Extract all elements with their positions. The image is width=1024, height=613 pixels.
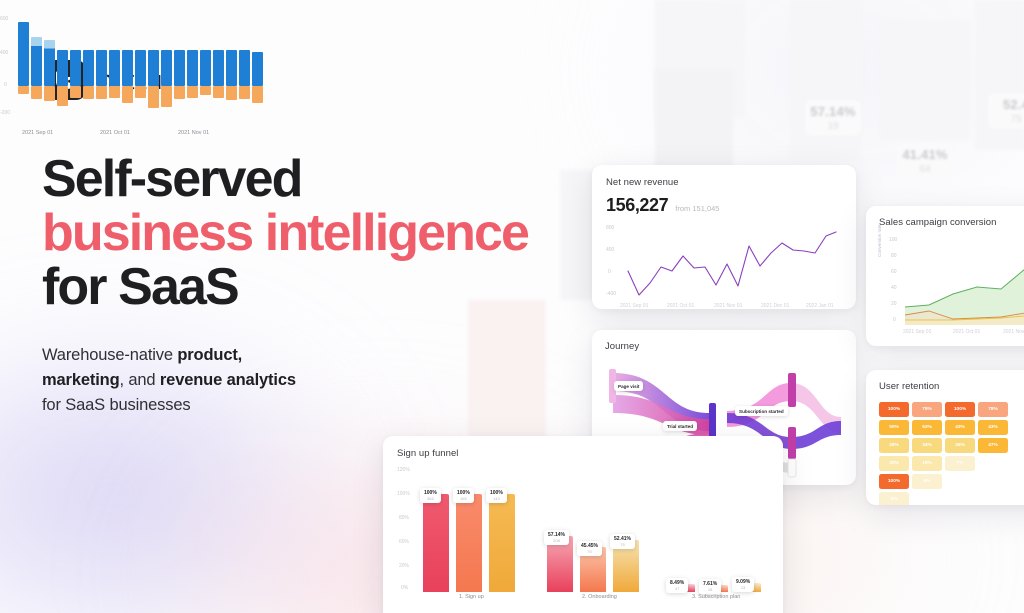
bar-negative[interactable] bbox=[122, 86, 133, 103]
x-tick: 2021 Sep 01 bbox=[903, 329, 931, 335]
funnel-tooltip-pct: 100% bbox=[457, 490, 470, 496]
funnel-bar[interactable] bbox=[456, 494, 482, 592]
x-tick: 2021 Sep 01 bbox=[22, 130, 53, 136]
x-tick: 1. Sign up bbox=[459, 594, 484, 600]
background-ghost-bar bbox=[790, 0, 862, 160]
subhead-fragment-1: product, bbox=[177, 346, 242, 364]
y-tick: -400 bbox=[606, 291, 616, 297]
card-sales-campaign-conversion[interactable]: Sales campaign conversion Conversion rat… bbox=[866, 206, 1024, 346]
kpi-value: 156,227 bbox=[606, 195, 668, 216]
retention-cell[interactable]: 43% bbox=[978, 420, 1008, 435]
retention-cell[interactable]: 5% bbox=[879, 492, 909, 505]
retention-row: 100%5% bbox=[879, 474, 1024, 489]
funnel-tooltip-count: 47 bbox=[670, 586, 684, 591]
y-tick: 20% bbox=[399, 563, 409, 569]
background-tooltip: 52.4 75 bbox=[988, 93, 1024, 129]
bar-positive[interactable] bbox=[200, 50, 211, 86]
bar-positive[interactable] bbox=[148, 50, 159, 86]
card-title: Sales campaign conversion bbox=[879, 217, 1024, 228]
funnel-bar[interactable] bbox=[423, 494, 449, 592]
bar-positive[interactable] bbox=[213, 50, 224, 86]
bar-positive[interactable] bbox=[83, 50, 94, 86]
sales-area-plot: Conversion rate 100 80 60 40 20 0 2021 S… bbox=[879, 237, 1024, 341]
retention-cell[interactable]: 47% bbox=[978, 438, 1008, 453]
retention-heatmap: 100%79%100%78%50%53%43%43%28%34%26%47%20… bbox=[879, 402, 1024, 505]
background-ghost-bar bbox=[655, 70, 733, 168]
retention-cell[interactable]: 20% bbox=[879, 456, 909, 471]
retention-cell[interactable]: 100% bbox=[879, 402, 909, 417]
headline-line-2: business intelligence bbox=[42, 206, 602, 260]
funnel-bar[interactable] bbox=[489, 494, 515, 592]
bar-negative[interactable] bbox=[31, 86, 42, 99]
funnel-tooltip: 45.45%75 bbox=[577, 541, 602, 556]
y-tick: 400 bbox=[0, 50, 8, 56]
bar-positive[interactable] bbox=[252, 52, 263, 87]
journey-node-label: Trial started bbox=[663, 421, 697, 431]
bar-positive[interactable] bbox=[18, 22, 29, 86]
retention-cell[interactable]: 26% bbox=[945, 438, 975, 453]
retention-row: 28%34%26%47% bbox=[879, 438, 1024, 453]
background-ghost-bar bbox=[880, 20, 970, 140]
bar-positive[interactable] bbox=[122, 50, 133, 86]
x-tick: 2022 Jan 01 bbox=[806, 303, 834, 309]
retention-cell[interactable]: 100% bbox=[945, 402, 975, 417]
y-tick: 800 bbox=[606, 225, 614, 231]
funnel-tooltip-count: 208 bbox=[548, 538, 565, 543]
journey-node-label: Subscription started bbox=[735, 406, 788, 416]
bar-negative[interactable] bbox=[239, 86, 250, 99]
retention-cell[interactable]: 28% bbox=[879, 438, 909, 453]
y-tick: 0 bbox=[4, 82, 7, 88]
y-tick: 80% bbox=[399, 515, 409, 521]
bar-negative[interactable] bbox=[148, 86, 159, 108]
funnel-tooltip-count: 143 bbox=[490, 496, 503, 501]
x-tick: 2021 Nov 01 bbox=[1003, 329, 1024, 335]
bar-positive[interactable] bbox=[57, 50, 68, 86]
card-daily-active-users[interactable]: 600 400 0 -200 2021 Sep 01 2021 Oct 01 2… bbox=[0, 0, 260, 150]
funnel-tooltip: 100%165 bbox=[453, 488, 474, 503]
bar-negative[interactable] bbox=[18, 86, 29, 94]
funnel-bar-plot: 120% 100% 80% 60% 20% 0% 100%364100%1651… bbox=[397, 467, 769, 592]
bar-negative[interactable] bbox=[226, 86, 237, 100]
bar-negative[interactable] bbox=[83, 86, 94, 99]
bar-negative[interactable] bbox=[57, 86, 68, 106]
funnel-tooltip-count: 364 bbox=[424, 496, 437, 501]
bar-positive[interactable] bbox=[31, 37, 42, 86]
y-tick: 0 bbox=[893, 317, 896, 323]
x-tick: 2021 Oct 01 bbox=[667, 303, 694, 309]
subhead-fragment-3: marketing bbox=[42, 371, 120, 389]
funnel-tooltip-count: 75 bbox=[614, 542, 631, 547]
headline-line-3: for SaaS bbox=[42, 260, 602, 314]
kpi-comparison: from 151,045 bbox=[675, 204, 719, 213]
subhead-fragment-4: , and bbox=[120, 371, 160, 389]
bars-plot: 600 400 0 -200 bbox=[0, 0, 260, 130]
hero-subheading: Warehouse-native product, marketing, and… bbox=[42, 343, 312, 418]
funnel-tooltip-pct: 100% bbox=[424, 490, 437, 496]
x-tick: 2021 Sep 01 bbox=[620, 303, 648, 309]
background-tooltip-value: 57.14% bbox=[810, 104, 855, 119]
retention-cell[interactable]: 50% bbox=[879, 420, 909, 435]
retention-cell[interactable]: 100% bbox=[879, 474, 909, 489]
background-tooltip-value: 52.4 bbox=[1003, 97, 1024, 112]
bar-negative[interactable] bbox=[44, 86, 55, 101]
y-tick: 0% bbox=[401, 585, 408, 591]
retention-cell[interactable]: 34% bbox=[912, 438, 942, 453]
bar-negative[interactable] bbox=[174, 86, 185, 99]
x-tick: 2021 Nov 01 bbox=[178, 130, 209, 136]
journey-node-label: Page visit bbox=[614, 381, 643, 391]
funnel-tooltip-pct: 100% bbox=[490, 490, 503, 496]
background-tooltip-count: 64 bbox=[919, 164, 930, 175]
revenue-line-plot: 800 400 0 -400 2021 Sep 01 2021 Oct 01 2… bbox=[606, 223, 842, 309]
retention-cell[interactable]: 7% bbox=[945, 456, 975, 471]
subhead-fragment-0: Warehouse-native bbox=[42, 346, 177, 364]
y-axis-label: Conversion rate bbox=[877, 225, 882, 257]
card-user-retention[interactable]: User retention 100%79%100%78%50%53%43%43… bbox=[866, 370, 1024, 505]
funnel-tooltip-pct: 7.61% bbox=[703, 581, 717, 587]
y-tick: 80 bbox=[891, 253, 897, 259]
funnel-tooltip: 57.14%208 bbox=[544, 530, 569, 545]
x-tick: 2021 Oct 01 bbox=[100, 130, 130, 136]
card-title: User retention bbox=[879, 381, 1024, 392]
funnel-tooltip: 52.41%75 bbox=[610, 534, 635, 549]
funnel-tooltip: 100%364 bbox=[420, 488, 441, 503]
bar-positive[interactable] bbox=[70, 50, 81, 86]
x-tick: 2021 Oct 01 bbox=[953, 329, 980, 335]
y-tick: 60% bbox=[399, 539, 409, 545]
bar-positive[interactable] bbox=[187, 50, 198, 86]
retention-cell[interactable]: 53% bbox=[912, 420, 942, 435]
y-tick: 600 bbox=[0, 16, 8, 22]
funnel-tooltip-pct: 57.14% bbox=[548, 532, 565, 538]
bar-negative[interactable] bbox=[96, 86, 107, 99]
funnel-tooltip-pct: 8.49% bbox=[670, 580, 684, 586]
y-tick: 400 bbox=[606, 247, 614, 253]
funnel-tooltip: 9.09%13 bbox=[732, 577, 754, 592]
bar-positive[interactable] bbox=[239, 50, 250, 86]
bar-negative[interactable] bbox=[213, 86, 224, 98]
y-tick: 120% bbox=[397, 467, 410, 473]
card-title: Journey bbox=[605, 341, 843, 352]
bar-negative[interactable] bbox=[187, 86, 198, 98]
bar-positive[interactable] bbox=[226, 50, 237, 86]
bar-positive[interactable] bbox=[174, 50, 185, 86]
funnel-tooltip: 100%143 bbox=[486, 488, 507, 503]
retention-cell[interactable]: 78% bbox=[978, 402, 1008, 417]
card-sign-up-funnel[interactable]: Sign up funnel 120% 100% 80% 60% 20% 0% … bbox=[383, 436, 783, 613]
bar-negative[interactable] bbox=[200, 86, 211, 95]
y-tick: 0 bbox=[608, 269, 611, 275]
x-tick: 2021 Dec 01 bbox=[761, 303, 789, 309]
retention-cell[interactable]: 5% bbox=[912, 474, 942, 489]
background-tooltip-value: 41.41% bbox=[902, 147, 947, 162]
y-tick: 20 bbox=[891, 301, 897, 307]
bar-negative[interactable] bbox=[161, 86, 172, 107]
background-tooltip-count: 75 bbox=[1010, 114, 1021, 125]
funnel-tooltip: 8.49%47 bbox=[666, 578, 688, 593]
bar-positive[interactable] bbox=[161, 50, 172, 86]
card-title: Net new revenue bbox=[606, 177, 842, 188]
subhead-fragment-8: for SaaS businesses bbox=[42, 396, 191, 414]
x-tick: 2021 Nov 01 bbox=[714, 303, 742, 309]
x-tick: 3. Subscription plan bbox=[692, 594, 740, 600]
retention-cell[interactable]: 79% bbox=[912, 402, 942, 417]
bar-positive[interactable] bbox=[44, 40, 55, 86]
x-tick: 2. Onboarding bbox=[582, 594, 617, 600]
funnel-tooltip-count: 75 bbox=[581, 549, 598, 554]
funnel-category-axis: 1. Sign up 2. Onboarding 3. Subscription… bbox=[397, 592, 769, 606]
funnel-tooltip-count: 18 bbox=[703, 587, 717, 592]
page-title: Self-served business intelligence for Sa… bbox=[42, 152, 602, 314]
background-tooltip: 41.41% 64 bbox=[897, 143, 953, 179]
retention-cell[interactable]: 43% bbox=[945, 420, 975, 435]
y-tick: 60 bbox=[891, 269, 897, 275]
background-tooltip: 57.14% 19 bbox=[805, 100, 861, 136]
y-tick: 100% bbox=[397, 491, 410, 497]
bar-negative[interactable] bbox=[135, 86, 146, 98]
hero-section: 57.14% 19 41.41% 64 52.4 75 mitzu Self-s… bbox=[0, 0, 1024, 613]
y-tick: 100 bbox=[889, 237, 897, 243]
retention-row: 50%53%43%43% bbox=[879, 420, 1024, 435]
bar-negative[interactable] bbox=[252, 86, 263, 103]
headline-line-1: Self-served bbox=[42, 152, 602, 206]
bar-positive[interactable] bbox=[96, 50, 107, 86]
bar-positive[interactable] bbox=[135, 50, 146, 86]
retention-row: 5% bbox=[879, 492, 1024, 505]
bar-positive[interactable] bbox=[109, 50, 120, 86]
funnel-tooltip-count: 165 bbox=[457, 496, 470, 501]
card-title: Sign up funnel bbox=[397, 448, 769, 459]
y-tick: 40 bbox=[891, 285, 897, 291]
y-tick: -200 bbox=[0, 110, 10, 116]
funnel-tooltip-count: 13 bbox=[736, 585, 750, 590]
subhead-fragment-5: revenue bbox=[160, 371, 222, 389]
kpi-row: 156,227 from 151,045 bbox=[606, 195, 842, 216]
retention-row: 100%79%100%78% bbox=[879, 402, 1024, 417]
retention-row: 20%19%7% bbox=[879, 456, 1024, 471]
subhead-fragment-7: analytics bbox=[227, 371, 296, 389]
bars-category-axis: 2021 Sep 01 2021 Oct 01 2021 Nov 01 bbox=[0, 130, 260, 144]
bar-negative[interactable] bbox=[70, 86, 81, 98]
bar-negative[interactable] bbox=[109, 86, 120, 98]
background-tooltip-count: 19 bbox=[827, 121, 838, 132]
card-net-new-revenue[interactable]: Net new revenue 156,227 from 151,045 800… bbox=[592, 165, 856, 309]
retention-cell[interactable]: 19% bbox=[912, 456, 942, 471]
